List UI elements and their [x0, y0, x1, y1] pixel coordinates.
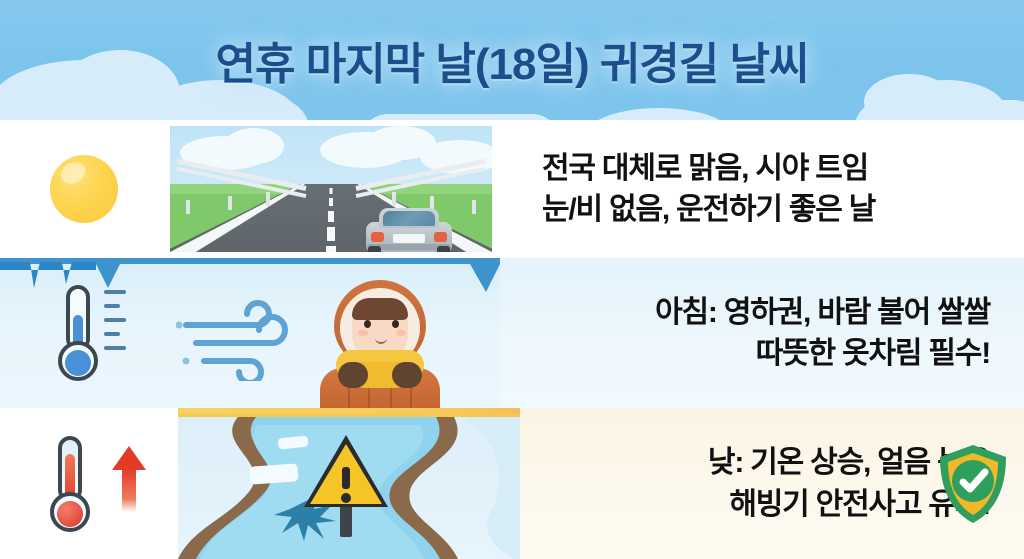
person-in-winter-coat-illustration	[310, 276, 450, 408]
shield-check-shape	[936, 443, 1010, 525]
guardrail-post	[228, 196, 232, 210]
shield-check-badge	[936, 443, 1010, 525]
hot-thermometer-icon	[48, 436, 92, 532]
row-clear-weather: 전국 대체로 맑음, 시야 트임 눈/비 없음, 운전하기 좋은 날	[0, 120, 1024, 258]
icy-river-illustration	[178, 417, 520, 559]
guardrail-post	[472, 200, 476, 214]
row3-icon-cell	[0, 408, 178, 559]
guardrail-post	[186, 200, 190, 214]
car-illustration	[366, 208, 452, 252]
thermometer-tick	[104, 318, 126, 322]
header-banner: 연휴 마지막 날(18일) 귀경길 날씨	[0, 0, 1024, 120]
row2-line-1: 아침: 영하권, 바람 불어 쌀쌀	[655, 292, 990, 333]
row2-line-2: 따뜻한 옷차림 필수!	[756, 333, 990, 374]
lane-dash	[327, 227, 335, 241]
wind-icon	[176, 291, 296, 375]
thermometer-tick	[104, 332, 120, 336]
wind-swirl-shape	[176, 291, 308, 381]
row1-line-2: 눈/비 없음, 운전하기 좋은 날	[542, 189, 875, 230]
sun-icon	[32, 137, 136, 241]
row2-text-block: 아침: 영하권, 바람 불어 쌀쌀 따뜻한 옷차림 필수!	[500, 258, 1024, 408]
cold-thermometer-icon	[56, 285, 100, 381]
row3-artwork	[0, 408, 520, 559]
highway-road-illustration	[170, 126, 492, 252]
thermometer-tick	[104, 346, 126, 350]
guardrail-post	[392, 192, 396, 206]
page-title: 연휴 마지막 날(18일) 귀경길 날씨	[216, 28, 809, 92]
cloud-icon	[224, 128, 284, 164]
lane-dash	[330, 188, 333, 194]
warning-triangle-icon	[304, 435, 388, 519]
lane-dash	[328, 211, 334, 222]
row2-artwork	[0, 258, 500, 408]
thermometer-tick	[104, 304, 120, 308]
row1-icon-cell	[0, 120, 170, 258]
up-arrow-icon	[112, 446, 146, 512]
row-morning-cold: 아침: 영하권, 바람 불어 쌀쌀 따뜻한 옷차림 필수!	[0, 258, 1024, 408]
guardrail-post	[266, 192, 270, 206]
row1-artwork	[0, 120, 492, 258]
lane-dash	[326, 246, 336, 252]
row2-icon-cell	[0, 258, 185, 408]
infographic-canvas: 연휴 마지막 날(18일) 귀경길 날씨	[0, 0, 1024, 559]
row3-text-block: 낮: 기온 상승, 얼음 녹음 해빙기 안전사고 유의!	[520, 408, 1024, 559]
row-daytime-thaw: 낮: 기온 상승, 얼음 녹음 해빙기 안전사고 유의!	[0, 408, 1024, 559]
row1-text-block: 전국 대체로 맑음, 시야 트임 눈/비 없음, 운전하기 좋은 날	[492, 120, 1024, 258]
lane-dash	[329, 198, 333, 206]
thermometer-tick	[104, 290, 126, 294]
row1-line-1: 전국 대체로 맑음, 시야 트임	[542, 148, 868, 189]
